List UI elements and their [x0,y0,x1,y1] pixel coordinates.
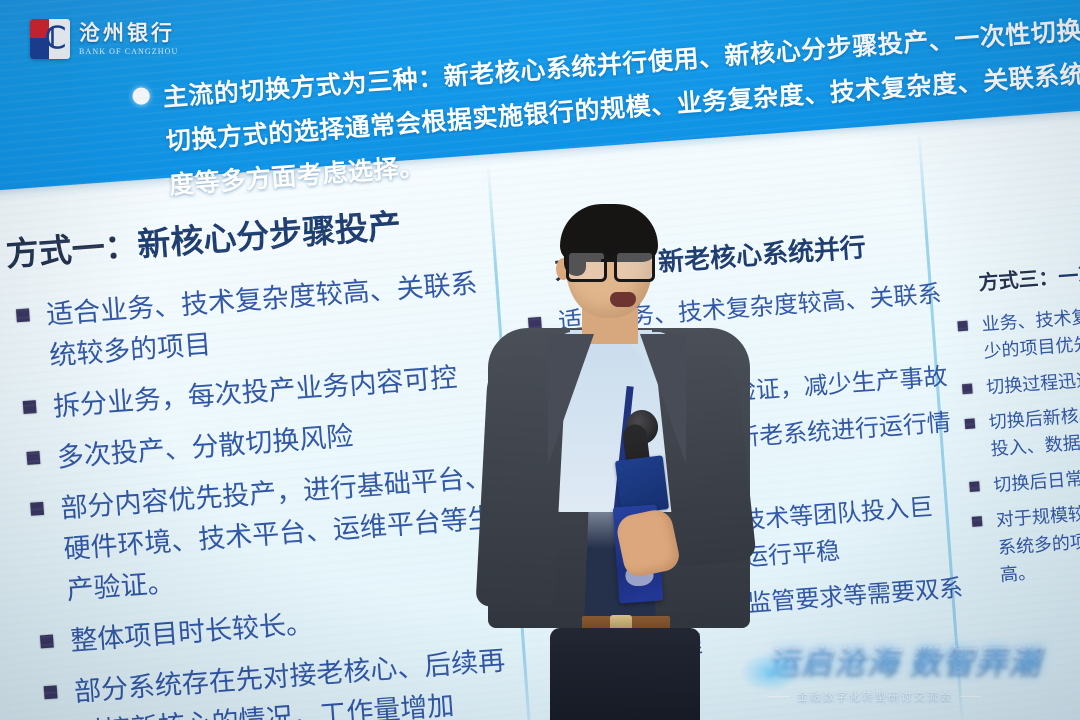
bullet-square-icon [26,451,40,465]
list-item-text: 多次投产、分散切换风险 [56,421,354,473]
glasses-icon [566,250,654,276]
list-item-text: 业务、技术复杂度较低、关联系统较少的项目优先选择 [981,294,1080,362]
bullet-square-icon [44,686,58,700]
bullet-square-icon [965,419,976,430]
bank-name-cn: 沧州银行 [79,23,178,44]
list-item: 业务、技术复杂度较低、关联系统较少的项目优先选择 [953,290,1080,369]
column-one-title: 方式一：新核心分步骤投产 [4,194,476,276]
bank-logo-text: 沧州银行 BANK OF CANGZHOU [79,23,178,56]
column-one-title-label: 方式一： [5,226,139,273]
bullet-square-icon [16,309,30,323]
bullet-square-icon [969,481,980,492]
watermark-rule-right [960,696,982,697]
column-one-bullets: 适合业务、技术复杂度较高、关联系统较多的项目 拆分业务，每次投产业务内容可控 多… [9,263,511,720]
speaker-mouth [610,292,636,307]
list-item: 部分内容优先投产，进行基础平台、硬件环境、技术平台、运维平台等生产验证。 [23,457,501,614]
glasses-bridge [601,259,614,262]
list-item: 对于规模较大、业务复杂度高、关联系统多的项目切换难度大、切换风险高。 [967,485,1080,591]
glasses-lens-left [566,250,607,282]
bank-name-en: BANK OF CANGZHOU [79,48,178,56]
slide-column-one: 方式一：新核心分步骤投产 适合业务、技术复杂度较高、关联系统较多的项目 拆分业务… [4,194,512,720]
bullet-square-icon [962,383,973,394]
bullet-square-icon [957,321,968,332]
list-item-text: 部分内容优先投产，进行基础平台、硬件环境、技术平台、运维平台等生产验证。 [60,462,496,605]
list-item-text: 对于规模较大、业务复杂度高、关联系统多的项目切换难度大、切换风险高。 [995,489,1080,585]
watermark-rule-left [768,696,790,697]
slide-column-three: 方式三：一次性切换 业务、技术复杂度较低、关联系统较少的项目优先选择 切换过程迅… [950,245,1080,600]
bullet-square-icon [30,502,44,516]
event-watermark: 运启沧海 数智弄潮 金融数字化转型研讨交流会 [768,636,1078,714]
list-item-text: 适合业务、技术复杂度较高、关联系统较多的项目 [45,269,478,371]
bullet-square-icon [972,516,983,527]
bullet-square-icon [23,400,37,414]
bank-logo-mark-icon: ℂ [30,19,70,59]
bank-logo: ℂ 沧州银行 BANK OF CANGZHOU [30,14,200,64]
speaker-lapel-right [640,334,686,464]
event-slogan: 运启沧海 数智弄潮 [768,636,1078,681]
list-item-text: 切换后新核心单系统运行，无需二次投入、数据比对等工作 [988,391,1080,459]
column-three-title: 方式三：一次性切换 [950,245,1080,298]
column-three-title-label: 方式三： [978,267,1059,295]
event-subtitle: 金融数字化转型研讨交流会 [797,688,953,704]
glasses-lens-right [614,250,655,282]
column-one-title-value: 新核心分步骤投产 [136,207,402,263]
speaker-lapel-left [548,334,594,464]
bullet-dot-icon [132,87,150,105]
slide-intro-line-3: 度等多方面考虑选择。 [168,147,426,202]
list-item-text: 切换过程迅速、人员投入较少 [986,360,1080,397]
column-three-bullets: 业务、技术复杂度较低、关联系统较少的项目优先选择 切换过程迅速、人员投入较少 切… [953,290,1080,592]
bullet-square-icon [40,635,54,649]
watermark-glow [740,652,800,692]
speaker-trousers [550,628,700,720]
logo-swirl-glyph: ℂ [42,22,69,56]
event-subtitle-row: 金融数字化转型研讨交流会 [768,688,1078,704]
conference-photo-stage: 主流的切换方式为三种：新老核心系统并行使用、新核心分步骤投产、一次性切换。 切换… [0,0,1080,720]
column-three-title-value: 一次性切换 [1058,260,1080,289]
speaker-person [470,196,770,720]
list-item-text: 整体项目时长较长。 [69,609,314,657]
